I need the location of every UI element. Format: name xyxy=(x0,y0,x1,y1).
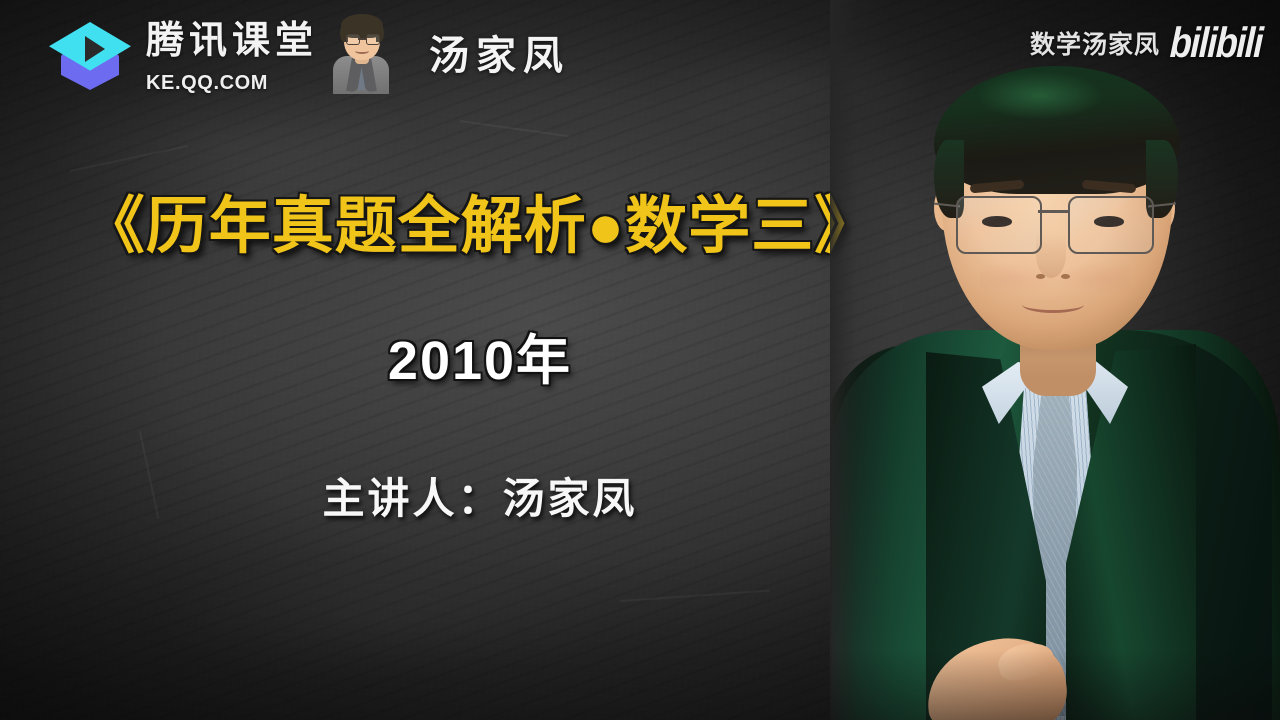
presenter-glasses-bridge-icon xyxy=(1038,210,1070,213)
video-frame: 腾讯课堂 KE.QQ.COM 汤家凤 数学汤家凤 bilibili 《历年真题全 xyxy=(0,0,1280,720)
teacher-caricature-avatar xyxy=(325,10,397,94)
platform-name-label: 腾讯课堂 xyxy=(146,22,318,60)
platform-url-label: KE.QQ.COM xyxy=(146,72,318,95)
presenter-left-nostril xyxy=(1036,274,1045,279)
course-year-label: 2010年 xyxy=(0,334,960,388)
avatar-glasses-bridge-icon xyxy=(358,38,366,40)
platform-brand-text: 腾讯课堂 KE.QQ.COM xyxy=(146,14,318,95)
presenter-mouth xyxy=(1022,296,1084,313)
tencent-classroom-logo-icon xyxy=(44,14,136,100)
teacher-name-label: 汤家凤 xyxy=(429,23,570,81)
presenter-glasses-left-lens-icon xyxy=(956,196,1042,254)
avatar-glasses-right-icon xyxy=(366,34,380,45)
platform-brand: 腾讯课堂 KE.QQ.COM xyxy=(44,14,318,100)
course-title: 《历年真题全解析●数学三》 xyxy=(0,196,960,258)
presenter-right-nostril xyxy=(1061,274,1070,279)
avatar-mouth-shape xyxy=(355,48,369,54)
teacher-badge: 汤家凤 xyxy=(325,10,570,94)
play-triangle-icon xyxy=(85,36,105,62)
course-presenter-label: 主讲人：汤家凤 xyxy=(0,478,960,520)
presenter-hair-highlight xyxy=(958,72,1128,128)
presenter-glasses-right-lens-icon xyxy=(1068,196,1154,254)
presenter-nose xyxy=(1036,232,1066,278)
presenter-photo xyxy=(830,0,1280,720)
